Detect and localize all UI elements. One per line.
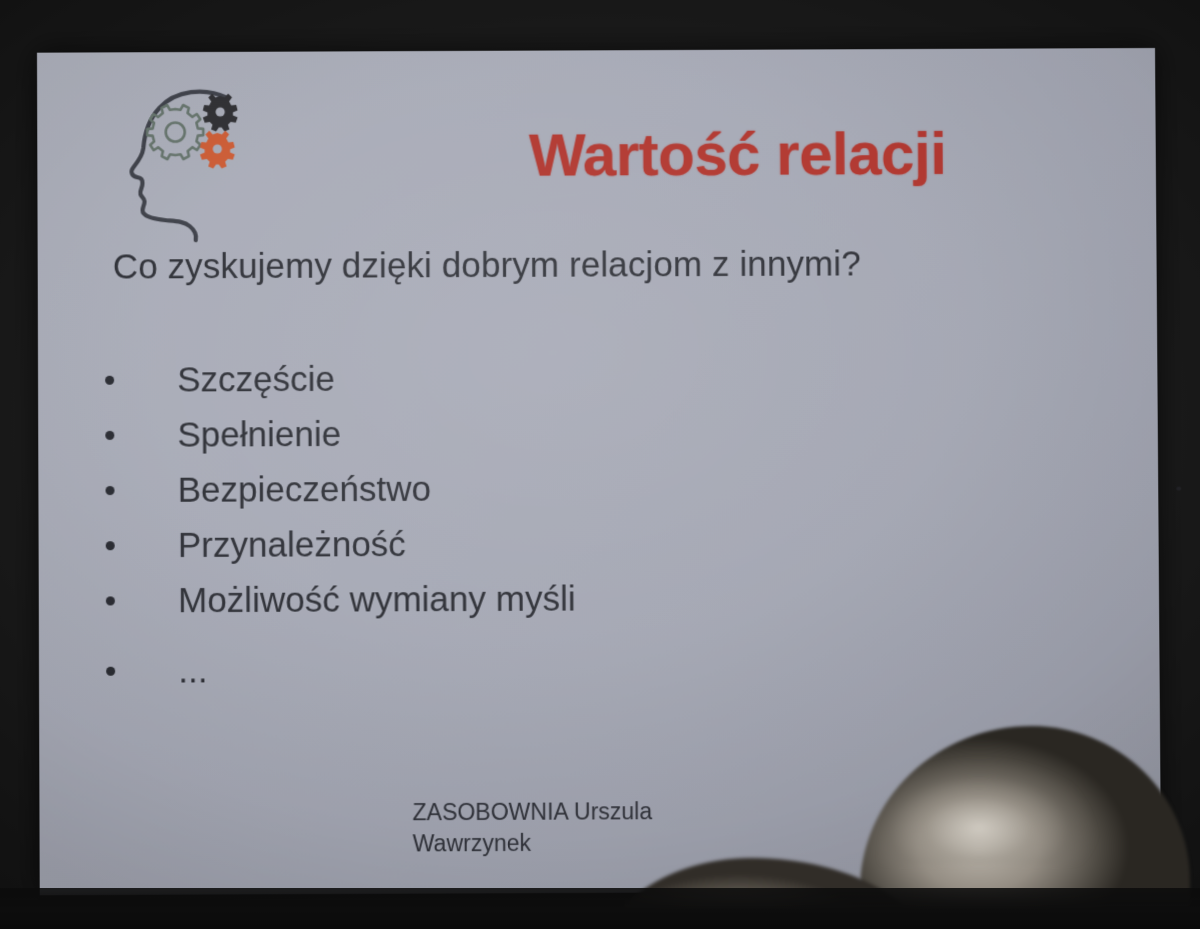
list-item: Bezpieczeństwo xyxy=(96,461,575,518)
slide-footer-credit: ZASOBOWNIA Urszula Wawrzynek xyxy=(412,796,713,860)
bullet-dot-icon xyxy=(105,376,114,385)
bullet-dot-icon xyxy=(106,486,115,495)
bullet-label: Bezpieczeństwo xyxy=(178,469,432,510)
screen-speck xyxy=(1176,487,1181,491)
bullet-label: Szczęście xyxy=(177,359,335,400)
footer-line-1: ZASOBOWNIA Urszula xyxy=(412,796,713,828)
bullet-dot-icon xyxy=(106,667,115,676)
gear-dark-icon xyxy=(203,94,238,132)
bullet-label: Możliwość wymiany myśli xyxy=(178,579,576,621)
list-item: Szczęście xyxy=(96,351,575,408)
list-item: Możliwość wymiany myśli xyxy=(97,571,576,628)
bullet-label: Przynależność xyxy=(178,524,406,565)
foreground-shadow xyxy=(0,888,1200,929)
bullet-label: ... xyxy=(178,651,207,691)
gear-orange-icon xyxy=(200,131,235,169)
bullet-dot-icon xyxy=(105,431,114,440)
list-item: Przynależność xyxy=(97,516,576,573)
bullet-label: Spełnienie xyxy=(177,414,341,455)
screenshot-stage: Wartość relacji Co zyskujemy dzięki dobr… xyxy=(0,0,1200,929)
bullet-list: Szczęście Spełnienie Bezpieczeństwo Przy… xyxy=(96,351,576,699)
slide-title: Wartość relacji xyxy=(367,118,1108,190)
bullet-dot-icon xyxy=(106,541,115,550)
list-item: Spełnienie xyxy=(96,406,575,463)
head-profile-gears-logo xyxy=(113,80,246,249)
footer-line-2: Wawrzynek xyxy=(413,827,714,859)
list-item: ... xyxy=(97,642,576,699)
slide-question-text: Co zyskujemy dzięki dobrym relacjom z in… xyxy=(113,244,861,287)
bullet-dot-icon xyxy=(106,596,115,605)
